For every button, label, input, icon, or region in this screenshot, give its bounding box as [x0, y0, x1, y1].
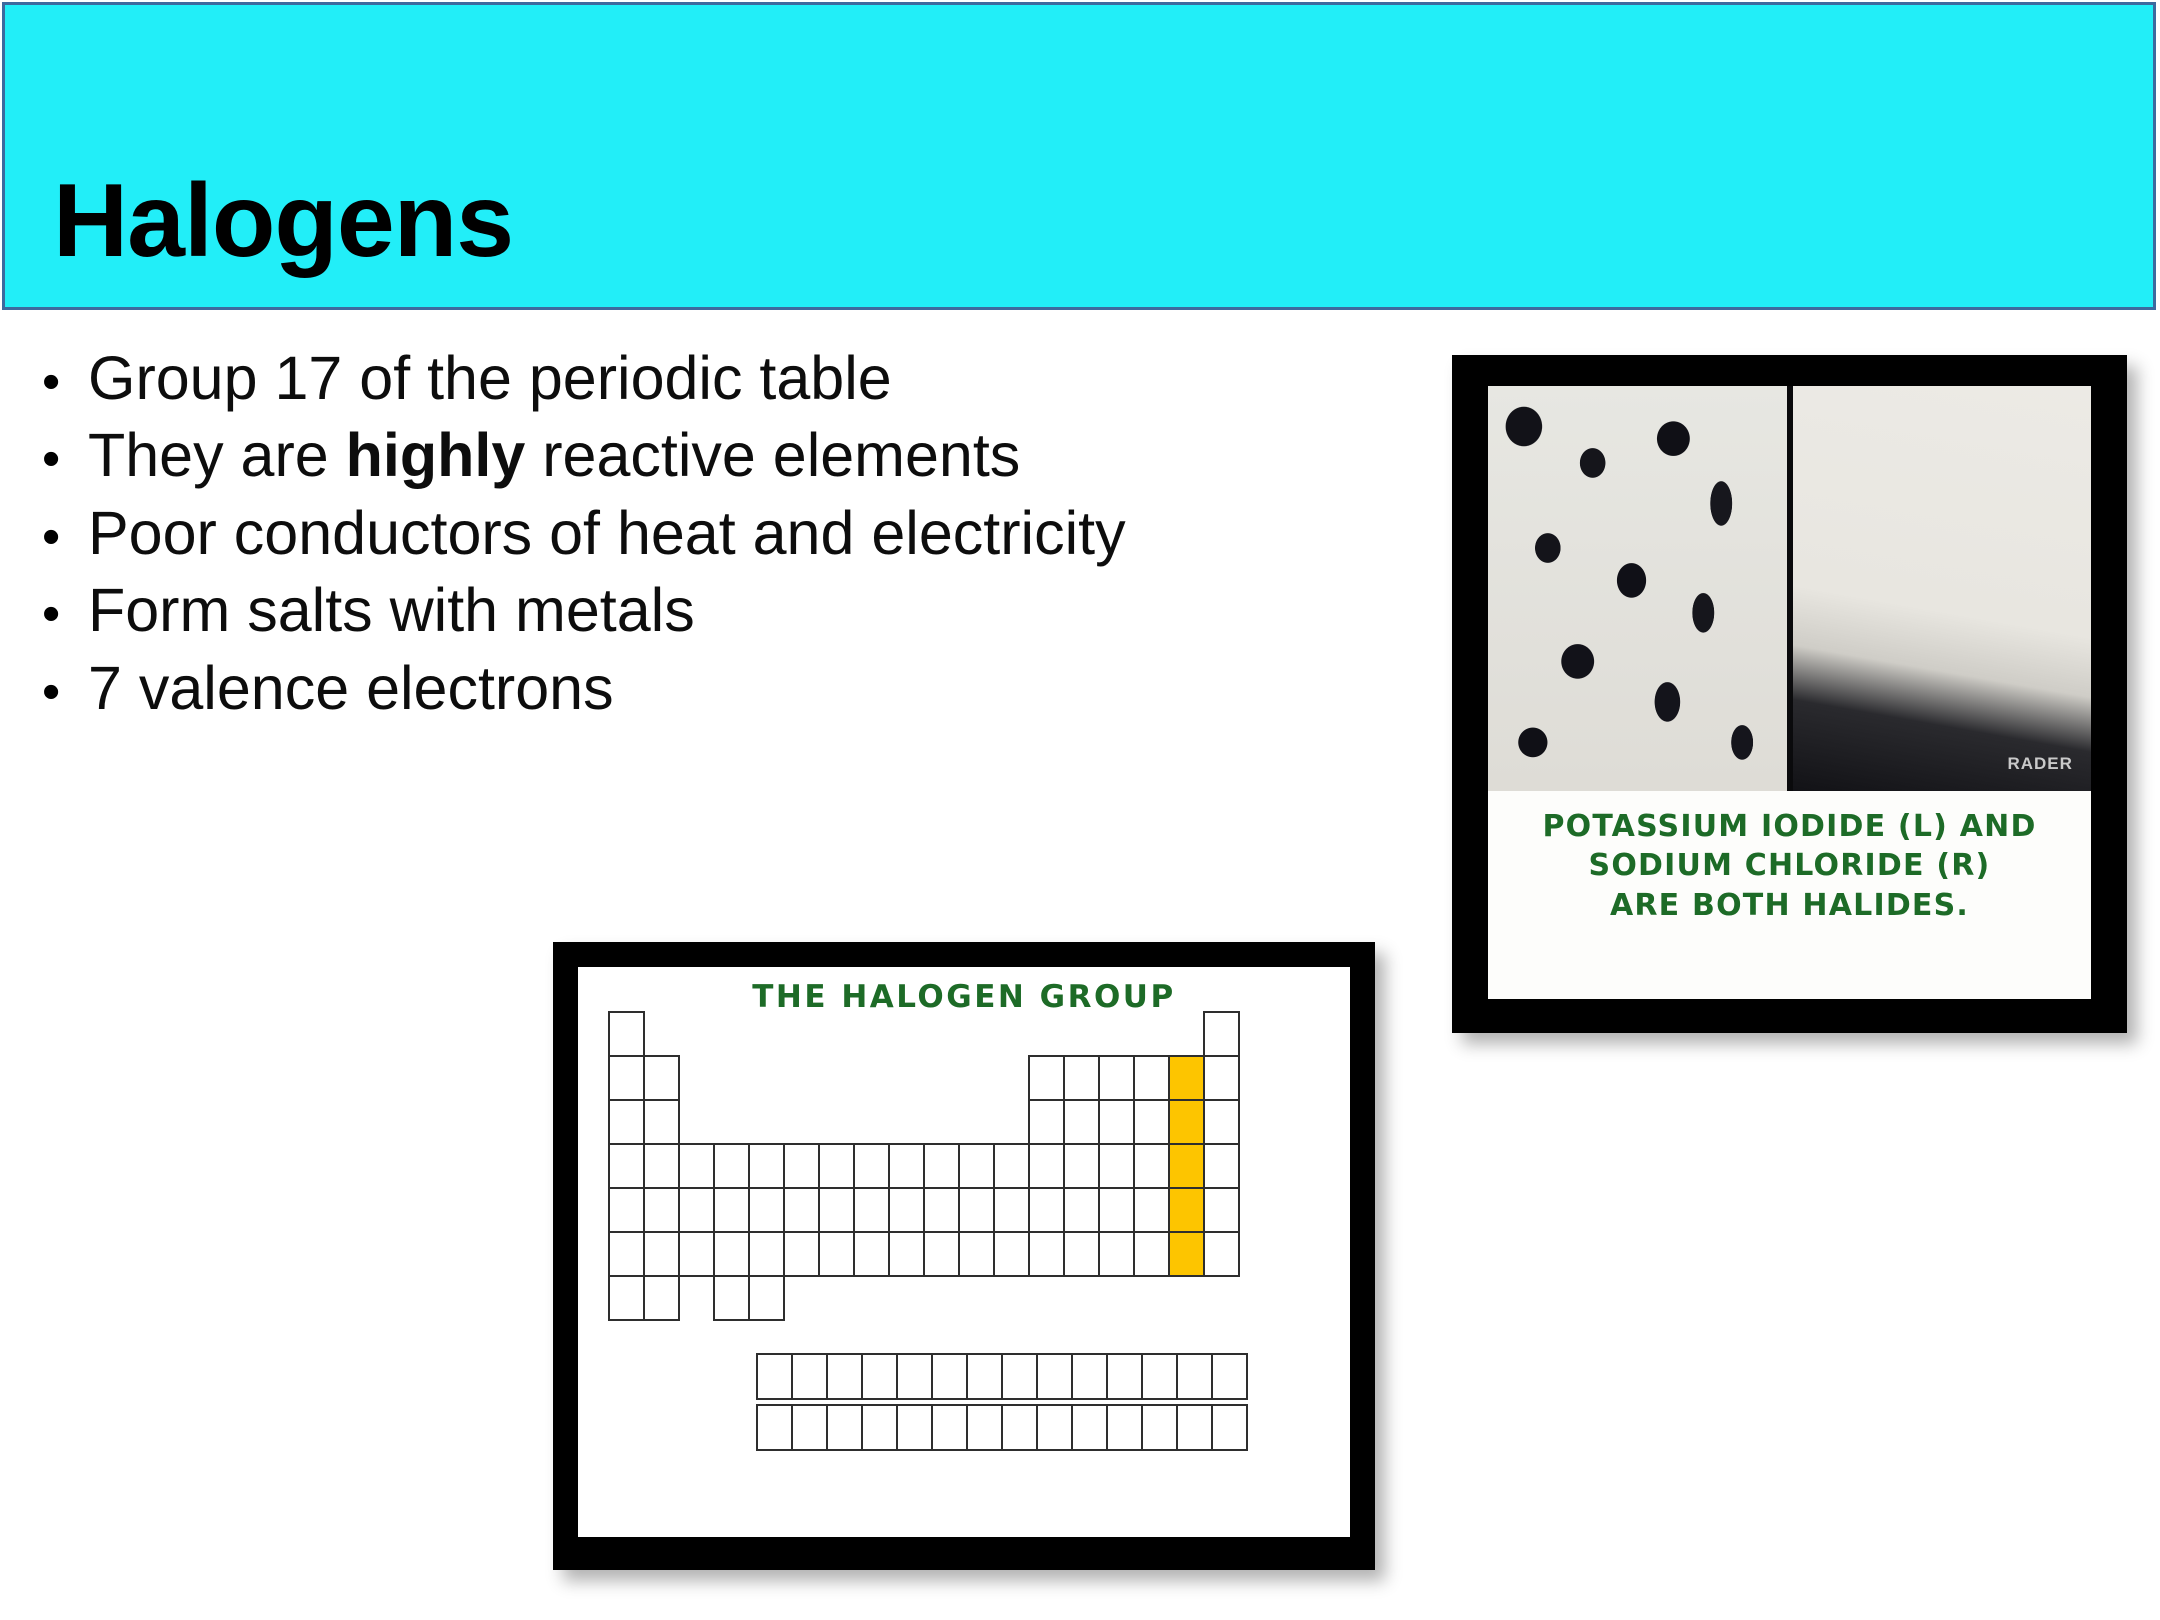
periodic-table-cell — [713, 1187, 750, 1233]
periodic-table-cell — [1098, 1187, 1135, 1233]
periodic-table-gap — [888, 1011, 925, 1057]
periodic-table-cell — [853, 1187, 890, 1233]
periodic-table-cell — [826, 1353, 863, 1400]
periodic-table-cell — [756, 1404, 793, 1451]
periodic-table-cell — [853, 1143, 890, 1189]
periodic-table-cell — [608, 1055, 645, 1101]
periodic-table-cell — [931, 1404, 968, 1451]
periodic-table-cell — [931, 1353, 968, 1400]
periodic-table-cell — [783, 1143, 820, 1189]
periodic-table-gap — [1063, 1011, 1100, 1057]
periodic-table-cell — [1106, 1353, 1143, 1400]
periodic-table-gap — [748, 1011, 785, 1057]
periodic-table-cell — [1028, 1143, 1065, 1189]
periodic-table-cell — [1063, 1099, 1100, 1145]
periodic-table-gap — [1098, 1275, 1135, 1321]
periodic-table-gap — [1203, 1275, 1240, 1321]
sodium-chloride-sample — [1792, 386, 2091, 791]
periodic-table-cell — [1211, 1404, 1248, 1451]
periodic-table-gap — [678, 1011, 715, 1057]
periodic-table-cell — [1133, 1231, 1170, 1277]
periodic-table-gap — [713, 1011, 750, 1057]
bullet-item: •Group 17 of the periodic table — [42, 340, 1462, 417]
bullet-text: 7 valence electrons — [88, 650, 614, 727]
periodic-table-gap — [678, 1055, 715, 1101]
periodic-table-cell — [1133, 1143, 1170, 1189]
periodic-table-gap — [748, 1055, 785, 1101]
periodic-table-cell — [748, 1231, 785, 1277]
periodic-table-cell — [783, 1187, 820, 1233]
periodic-table-cell — [896, 1353, 933, 1400]
periodic-table-gap — [853, 1055, 890, 1101]
periodic-table-cell — [993, 1231, 1030, 1277]
periodic-table-cell — [1063, 1231, 1100, 1277]
periodic-table-cell — [643, 1231, 680, 1277]
periodic-table-gap — [1098, 1011, 1135, 1057]
periodic-table-cell — [678, 1187, 715, 1233]
periodic-table-cell — [791, 1404, 828, 1451]
periodic-table-cell — [1176, 1353, 1213, 1400]
periodic-table-halogen-cell — [1168, 1231, 1205, 1277]
periodic-table-cell — [1001, 1404, 1038, 1451]
periodic-table-cell — [608, 1011, 645, 1057]
periodic-table-cell — [1133, 1055, 1170, 1101]
photo-watermark: RADER — [2007, 754, 2072, 774]
periodic-table-cell — [608, 1275, 645, 1321]
periodic-table-gap — [1063, 1275, 1100, 1321]
bullet-text: Group 17 of the periodic table — [88, 340, 892, 417]
periodic-table-cell — [713, 1143, 750, 1189]
periodic-table-cell — [783, 1231, 820, 1277]
photo-caption-line: ARE BOTH HALIDES. — [1610, 886, 1969, 926]
periodic-table-cell — [1028, 1099, 1065, 1145]
periodic-table-cell — [923, 1143, 960, 1189]
periodic-table-gap — [1028, 1275, 1065, 1321]
periodic-table-cell — [958, 1143, 995, 1189]
bullet-dot-icon: • — [42, 588, 88, 640]
periodic-table-cell — [1036, 1353, 1073, 1400]
periodic-table-cell — [1028, 1231, 1065, 1277]
periodic-table-cell — [1098, 1055, 1135, 1101]
bullet-text: Poor conductors of heat and electricity — [88, 495, 1126, 572]
periodic-table-inner: THE HALOGEN GROUP — [578, 967, 1350, 1537]
photo-caption-line: POTASSIUM IODIDE (L) AND — [1542, 807, 2036, 847]
periodic-table-cell — [818, 1231, 855, 1277]
periodic-table-cell — [643, 1187, 680, 1233]
periodic-table-cell — [1211, 1353, 1248, 1400]
periodic-table-gap — [923, 1275, 960, 1321]
periodic-table-cell — [993, 1187, 1030, 1233]
slide-title-bar: Halogens — [2, 2, 2156, 310]
periodic-table-cell — [888, 1231, 925, 1277]
periodic-table-gap — [923, 1011, 960, 1057]
periodic-table-halogen-cell — [1168, 1143, 1205, 1189]
periodic-table-gap — [1133, 1275, 1170, 1321]
periodic-table-gap — [818, 1011, 855, 1057]
periodic-table-gap — [958, 1055, 995, 1101]
periodic-table-cell — [818, 1143, 855, 1189]
periodic-table-cell — [1028, 1187, 1065, 1233]
periodic-table-cell — [1071, 1353, 1108, 1400]
periodic-table-cell — [791, 1353, 828, 1400]
bullet-text: Form salts with metals — [88, 572, 695, 649]
periodic-table-cell — [608, 1143, 645, 1189]
periodic-table-cell — [1098, 1143, 1135, 1189]
periodic-table-gap — [888, 1275, 925, 1321]
periodic-table-gap — [783, 1275, 820, 1321]
periodic-table-row — [608, 1187, 1238, 1233]
periodic-table-card: THE HALOGEN GROUP — [553, 942, 1375, 1570]
periodic-table-cell — [678, 1231, 715, 1277]
bullet-dot-icon: • — [42, 666, 88, 718]
periodic-table-gap — [1168, 1275, 1205, 1321]
periodic-table-cell — [888, 1143, 925, 1189]
periodic-table-gap — [923, 1099, 960, 1145]
bullet-text: They are highly reactive elements — [88, 417, 1020, 494]
periodic-table-gap — [783, 1099, 820, 1145]
periodic-table-grid — [608, 1011, 1238, 1319]
periodic-table-f-row — [756, 1404, 1246, 1451]
periodic-table-gap — [783, 1011, 820, 1057]
page-title: Halogens — [5, 169, 513, 307]
periodic-table-gap — [958, 1099, 995, 1145]
periodic-table-cell — [1063, 1055, 1100, 1101]
periodic-table-cell — [748, 1143, 785, 1189]
periodic-table-cell — [923, 1231, 960, 1277]
periodic-table-cell — [1063, 1143, 1100, 1189]
periodic-table-gap — [958, 1275, 995, 1321]
periodic-table-cell — [1176, 1404, 1213, 1451]
periodic-table-cell — [643, 1143, 680, 1189]
salts-photo-image: RADER — [1488, 386, 2091, 791]
periodic-table-cell — [958, 1231, 995, 1277]
periodic-table-halogen-cell — [1168, 1099, 1205, 1145]
sample-divider — [1787, 386, 1792, 791]
salts-photo-card: RADER POTASSIUM IODIDE (L) ANDSODIUM CHL… — [1452, 355, 2127, 1033]
periodic-table-cell — [923, 1187, 960, 1233]
periodic-table-cell — [713, 1231, 750, 1277]
periodic-table-cell — [643, 1099, 680, 1145]
periodic-table-gap — [993, 1099, 1030, 1145]
periodic-table-cell — [861, 1353, 898, 1400]
periodic-table-cell — [1001, 1353, 1038, 1400]
periodic-table-row — [608, 1231, 1238, 1277]
periodic-table-cell — [1098, 1231, 1135, 1277]
periodic-table-cell — [1141, 1353, 1178, 1400]
periodic-table-gap — [1028, 1011, 1065, 1057]
periodic-table-gap — [748, 1099, 785, 1145]
bullet-item: •Poor conductors of heat and electricity — [42, 495, 1462, 572]
periodic-table-cell — [1203, 1055, 1240, 1101]
periodic-table-gap — [993, 1011, 1030, 1057]
periodic-table-cell — [818, 1187, 855, 1233]
periodic-table-gap — [853, 1099, 890, 1145]
periodic-table-cell — [1203, 1011, 1240, 1057]
periodic-table-cell — [713, 1275, 750, 1321]
periodic-table-gap — [923, 1055, 960, 1101]
periodic-table-gap — [1168, 1011, 1205, 1057]
periodic-table-cell — [1133, 1187, 1170, 1233]
periodic-table-row — [608, 1099, 1238, 1145]
periodic-table-cell — [643, 1275, 680, 1321]
periodic-table-cell — [748, 1275, 785, 1321]
periodic-table-gap — [853, 1275, 890, 1321]
bullet-item: •Form salts with metals — [42, 572, 1462, 649]
periodic-table-cell — [608, 1231, 645, 1277]
periodic-table-row — [608, 1011, 1238, 1057]
periodic-table-cell — [1028, 1055, 1065, 1101]
periodic-table-row — [608, 1275, 1238, 1321]
potassium-iodide-sample — [1488, 386, 1787, 791]
periodic-table-cell — [1063, 1187, 1100, 1233]
bullet-dot-icon: • — [42, 433, 88, 485]
periodic-table-cell — [1098, 1099, 1135, 1145]
periodic-table-cell — [853, 1231, 890, 1277]
periodic-table-cell — [861, 1404, 898, 1451]
periodic-table-gap — [678, 1099, 715, 1145]
periodic-table-cell — [608, 1099, 645, 1145]
periodic-table-cell — [678, 1143, 715, 1189]
periodic-table-cell — [1106, 1404, 1143, 1451]
bullet-item: •7 valence electrons — [42, 650, 1462, 727]
periodic-table-cell — [1203, 1099, 1240, 1145]
periodic-table-cell — [608, 1187, 645, 1233]
periodic-table-cell — [748, 1187, 785, 1233]
periodic-table-cell — [1141, 1404, 1178, 1451]
periodic-table-cell — [643, 1055, 680, 1101]
periodic-table-gap — [888, 1099, 925, 1145]
salts-photo-inner: RADER POTASSIUM IODIDE (L) ANDSODIUM CHL… — [1488, 386, 2091, 999]
bullet-dot-icon: • — [42, 511, 88, 563]
periodic-table-f-block — [756, 1353, 1246, 1455]
bullet-list: •Group 17 of the periodic table•They are… — [42, 340, 1462, 727]
periodic-table-gap — [993, 1275, 1030, 1321]
photo-caption: POTASSIUM IODIDE (L) ANDSODIUM CHLORIDE … — [1488, 791, 2091, 999]
periodic-table-gap — [818, 1275, 855, 1321]
periodic-table-halogen-cell — [1168, 1187, 1205, 1233]
periodic-table-cell — [888, 1187, 925, 1233]
periodic-table-gap — [818, 1055, 855, 1101]
periodic-table-gap — [1133, 1011, 1170, 1057]
periodic-table-gap — [853, 1011, 890, 1057]
periodic-table-cell — [1071, 1404, 1108, 1451]
periodic-table-cell — [826, 1404, 863, 1451]
periodic-table-cell — [993, 1143, 1030, 1189]
bullet-item: •They are highly reactive elements — [42, 417, 1462, 494]
slide-halogens: Halogens •Group 17 of the periodic table… — [0, 0, 2160, 1620]
periodic-table-gap — [818, 1099, 855, 1145]
periodic-table-row — [608, 1055, 1238, 1101]
periodic-table-cell — [1203, 1143, 1240, 1189]
photo-caption-line: SODIUM CHLORIDE (R) — [1589, 846, 1991, 886]
periodic-table-cell — [1133, 1099, 1170, 1145]
periodic-table-gap — [678, 1275, 715, 1321]
periodic-table-gap — [888, 1055, 925, 1101]
periodic-table-row — [608, 1143, 1238, 1189]
periodic-table-title: THE HALOGEN GROUP — [578, 979, 1350, 1015]
bullet-dot-icon: • — [42, 356, 88, 408]
periodic-table-gap — [713, 1099, 750, 1145]
periodic-table-gap — [713, 1055, 750, 1101]
periodic-table-cell — [1203, 1187, 1240, 1233]
periodic-table-cell — [1203, 1231, 1240, 1277]
periodic-table-gap — [783, 1055, 820, 1101]
bullet-emphasis: highly — [346, 421, 526, 489]
periodic-table-f-row — [756, 1353, 1246, 1400]
periodic-table-halogen-cell — [1168, 1055, 1205, 1101]
periodic-table-gap — [643, 1011, 680, 1057]
periodic-table-cell — [756, 1353, 793, 1400]
periodic-table-gap — [958, 1011, 995, 1057]
periodic-table-cell — [896, 1404, 933, 1451]
periodic-table-cell — [1036, 1404, 1073, 1451]
periodic-table-gap — [993, 1055, 1030, 1101]
periodic-table-cell — [966, 1404, 1003, 1451]
periodic-table-cell — [958, 1187, 995, 1233]
periodic-table-cell — [966, 1353, 1003, 1400]
